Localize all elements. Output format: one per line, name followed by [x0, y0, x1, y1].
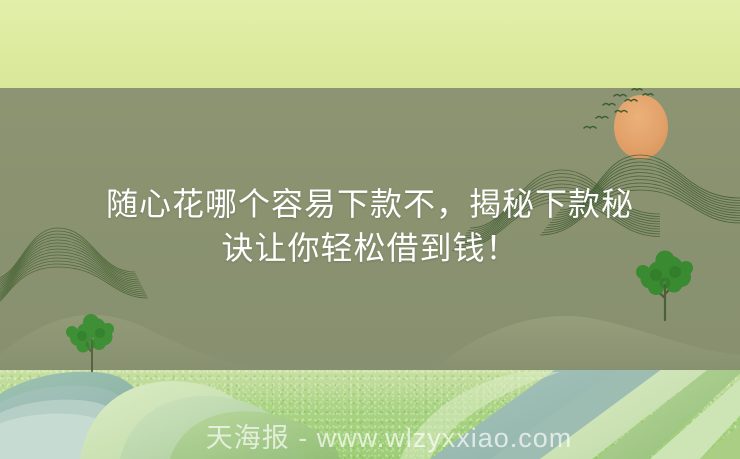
poster-canvas: 随心花哪个容易下款不，揭秘下款秘 诀让你轻松借到钱！ 天海报 - www.wlz… — [0, 0, 740, 459]
poster-headline: 随心花哪个容易下款不，揭秘下款秘 诀让你轻松借到钱！ — [0, 182, 740, 270]
